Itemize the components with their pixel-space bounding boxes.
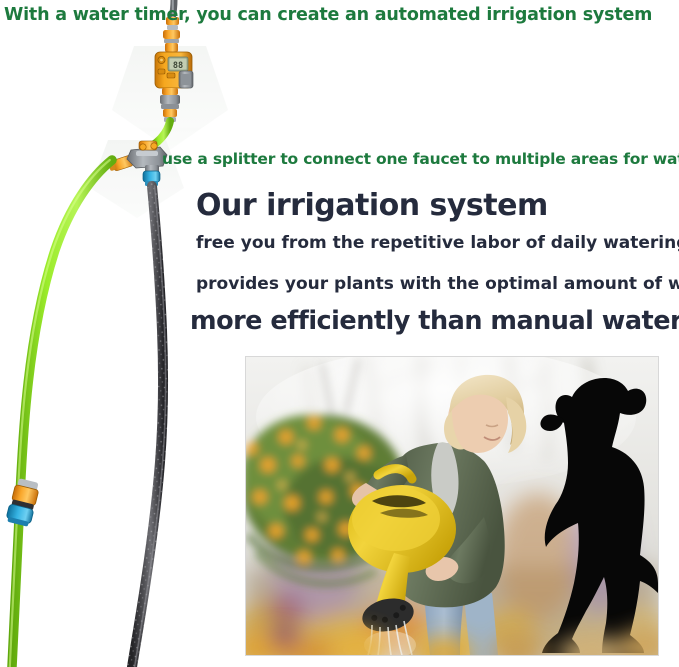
tagline-top: With a water timer, you can create an au… <box>4 5 652 25</box>
benefit-line-3: more efficiently than manual watering <box>190 306 679 336</box>
tagline-splitter: use a splitter to connect one faucet to … <box>162 150 679 168</box>
green-garden-hose <box>12 160 112 667</box>
benefit-line-2: provides your plants with the optimal am… <box>196 274 679 294</box>
quick-connect-coupling <box>5 477 40 527</box>
lifestyle-photo <box>246 357 658 655</box>
timer-display-value: 88 <box>173 61 183 71</box>
page-title: Our irrigation system <box>196 188 548 223</box>
benefit-line-1: free you from the repetitive labor of da… <box>196 233 679 253</box>
infographic-canvas: 88 <box>0 0 679 667</box>
